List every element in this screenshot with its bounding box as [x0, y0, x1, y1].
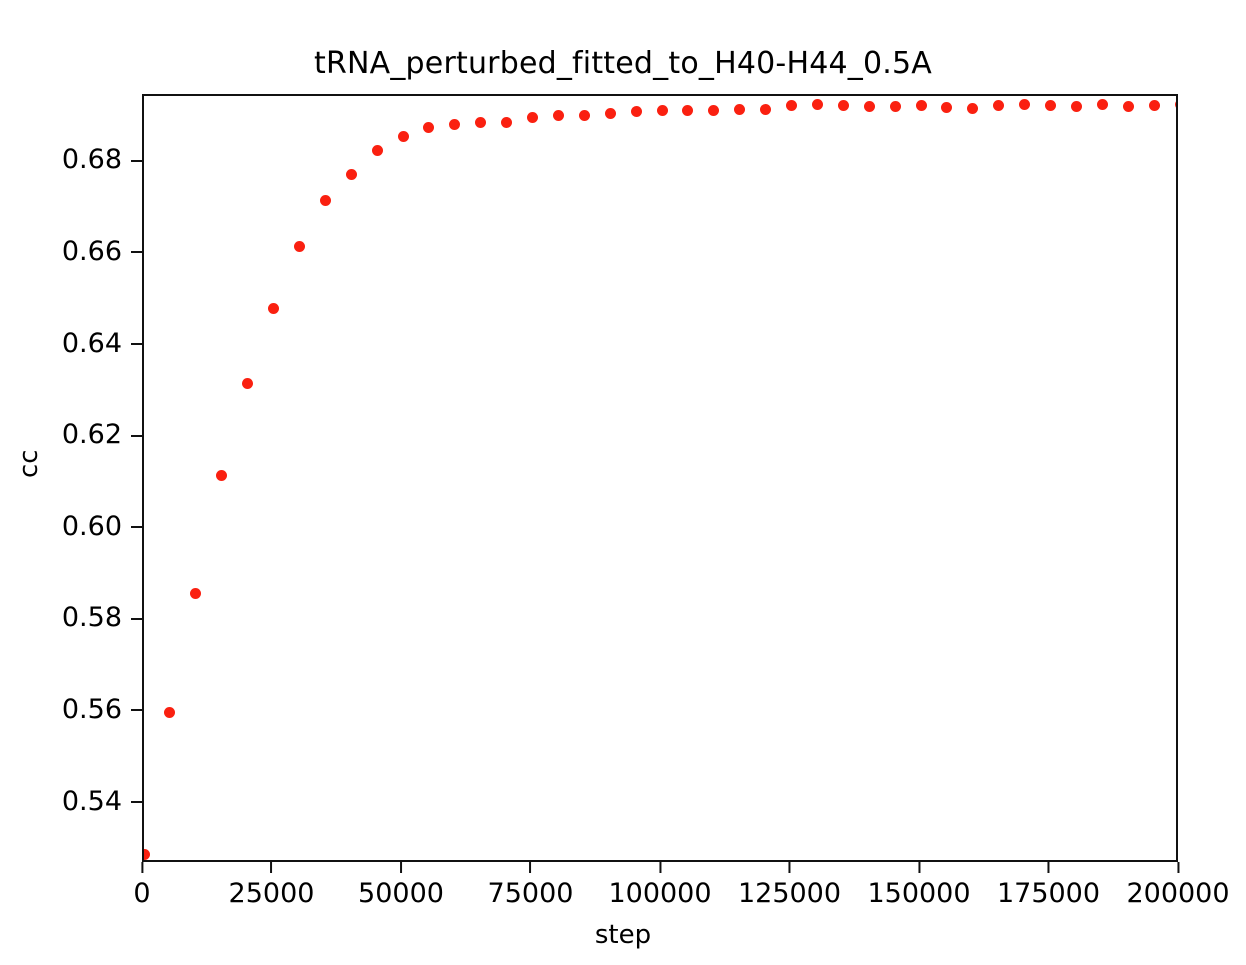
data-point: [242, 378, 253, 389]
x-axis-tick-label: 125000: [738, 880, 841, 907]
data-point: [449, 119, 460, 130]
data-point: [864, 101, 875, 112]
data-point: [657, 105, 668, 116]
y-axis-tick-label: 0.64: [62, 330, 122, 357]
data-point: [1175, 99, 1179, 110]
data-point: [501, 117, 512, 128]
x-axis-tick: 200000: [1126, 862, 1229, 907]
data-point: [786, 100, 797, 111]
y-axis-tick-mark: [131, 435, 142, 437]
scatter-series: [144, 96, 1176, 860]
x-axis-tick-label: 75000: [488, 880, 574, 907]
x-axis-tick: 175000: [997, 862, 1100, 907]
chart-figure: tRNA_perturbed_fitted_to_H40-H44_0.5A 0.…: [0, 0, 1246, 965]
y-axis-tick-label: 0.62: [62, 421, 122, 448]
x-axis-tick-label: 150000: [867, 880, 970, 907]
data-point: [320, 195, 331, 206]
x-axis-tick: 75000: [488, 862, 574, 907]
x-axis-tick-label: 0: [133, 880, 150, 907]
x-axis-tick-label: 175000: [997, 880, 1100, 907]
data-point: [527, 112, 538, 123]
data-point: [475, 117, 486, 128]
data-point: [268, 303, 279, 314]
data-point: [423, 122, 434, 133]
data-point: [838, 100, 849, 111]
data-point: [1019, 99, 1030, 110]
y-axis-tick-mark: [131, 709, 142, 711]
x-axis-tick-mark: [1047, 862, 1049, 873]
y-axis-tick-label: 0.60: [62, 513, 122, 540]
x-axis-tick: 25000: [229, 862, 315, 907]
plot-area: [142, 94, 1178, 862]
x-axis-tick: 100000: [608, 862, 711, 907]
y-axis-tick-mark: [131, 801, 142, 803]
data-point: [1097, 99, 1108, 110]
data-point: [553, 110, 564, 121]
x-axis-tick-mark: [400, 862, 402, 873]
data-point: [1071, 101, 1082, 112]
data-point: [294, 241, 305, 252]
y-axis-tick-mark: [131, 343, 142, 345]
data-point: [941, 102, 952, 113]
x-axis-tick-mark: [918, 862, 920, 873]
x-axis-tick-mark: [1177, 862, 1179, 873]
x-axis-tick-mark: [141, 862, 143, 873]
y-axis-tick-mark: [131, 251, 142, 253]
data-point: [372, 145, 383, 156]
x-axis-tick: 125000: [738, 862, 841, 907]
x-axis-tick: 50000: [358, 862, 444, 907]
x-axis-tick: 150000: [867, 862, 970, 907]
data-point: [812, 99, 823, 110]
data-point: [1149, 100, 1160, 111]
data-point: [708, 105, 719, 116]
x-axis-tick-mark: [788, 862, 790, 873]
y-axis-label: cc: [14, 449, 44, 478]
data-point: [398, 131, 409, 142]
x-axis-tick-label: 50000: [358, 880, 444, 907]
data-point: [216, 470, 227, 481]
x-axis-tick: 0: [133, 862, 150, 907]
x-axis-tick-label: 100000: [608, 880, 711, 907]
y-axis-tick-label: 0.68: [62, 146, 122, 173]
data-point: [164, 707, 175, 718]
x-axis-tick-label: 200000: [1126, 880, 1229, 907]
data-point: [346, 169, 357, 180]
data-point: [890, 101, 901, 112]
data-point: [1045, 100, 1056, 111]
x-axis-tick-mark: [530, 862, 532, 873]
data-point: [760, 104, 771, 115]
data-point: [967, 103, 978, 114]
x-axis-tick-mark: [271, 862, 273, 873]
data-point: [190, 588, 201, 599]
y-axis-tick-label: 0.66: [62, 238, 122, 265]
data-point: [605, 108, 616, 119]
x-axis-tick-mark: [659, 862, 661, 873]
data-point: [916, 100, 927, 111]
y-axis-tick-mark: [131, 618, 142, 620]
y-axis-tick-mark: [131, 526, 142, 528]
data-point: [631, 106, 642, 117]
y-axis: 0.540.560.580.600.620.640.660.68: [0, 0, 142, 965]
data-point: [1123, 101, 1134, 112]
x-axis-tick-label: 25000: [229, 880, 315, 907]
y-axis-tick-label: 0.56: [62, 696, 122, 723]
y-axis-tick-mark: [131, 160, 142, 162]
data-point: [734, 104, 745, 115]
data-point: [579, 110, 590, 121]
data-point: [993, 100, 1004, 111]
data-point: [682, 105, 693, 116]
x-axis-label: step: [0, 920, 1246, 950]
y-axis-tick-label: 0.58: [62, 604, 122, 631]
page-title: tRNA_perturbed_fitted_to_H40-H44_0.5A: [0, 46, 1246, 81]
data-point: [142, 849, 150, 860]
y-axis-tick-label: 0.54: [62, 788, 122, 815]
